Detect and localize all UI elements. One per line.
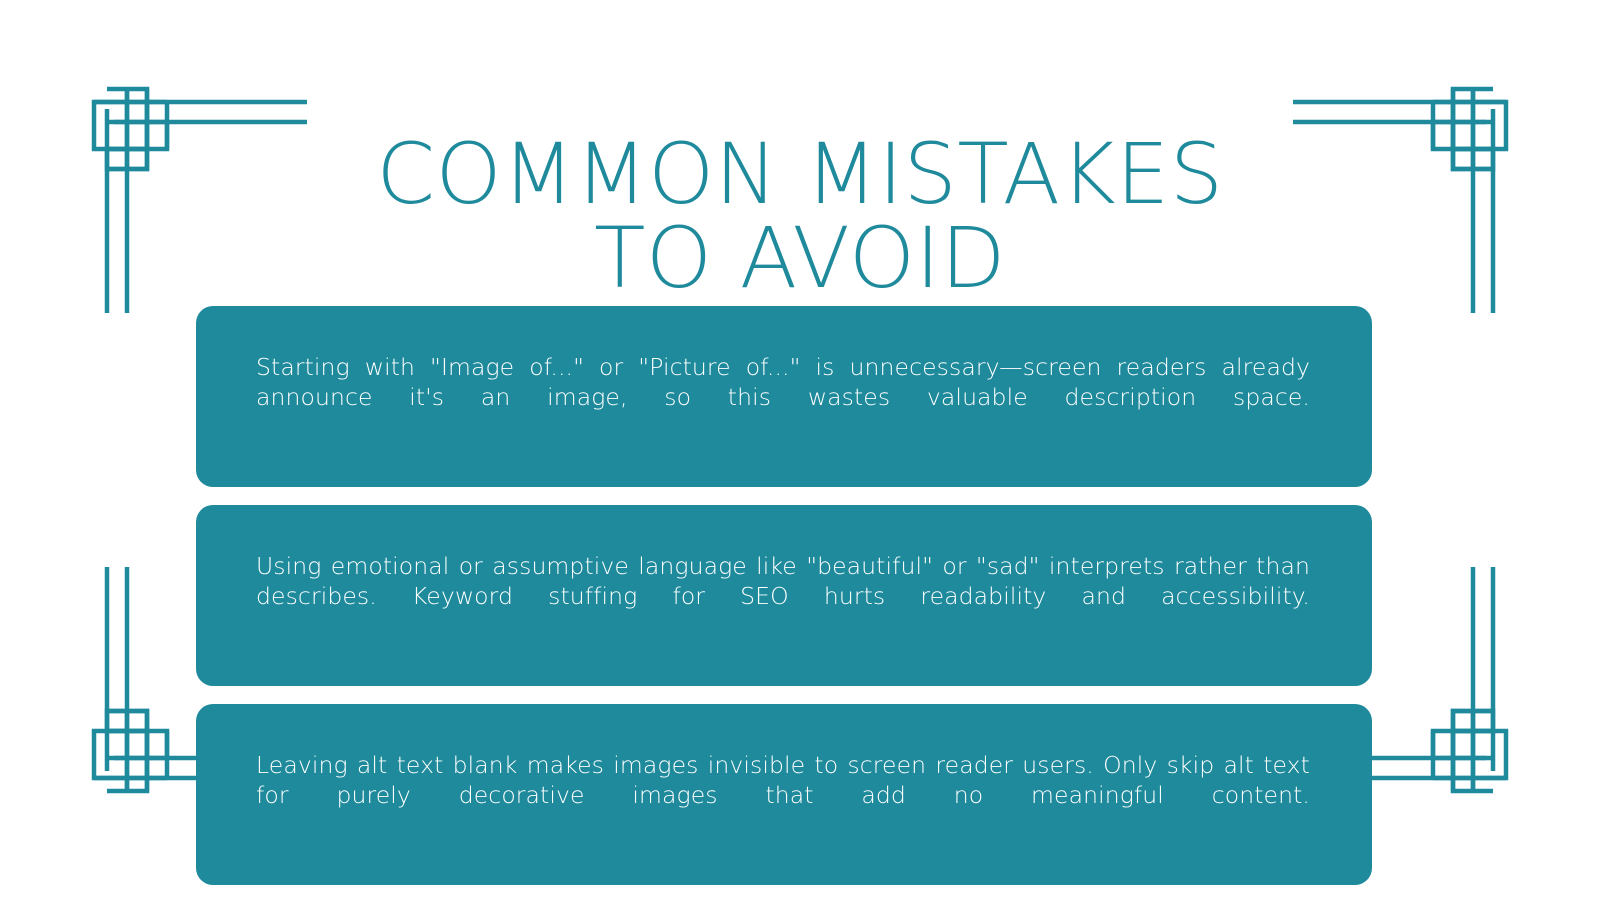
content-card-text: Leaving alt text blank makes images invi… [256, 750, 1310, 840]
content-card: Starting with "Image of..." or "Picture … [196, 306, 1372, 487]
page-title: COMMON MISTAKES TO AVOID [200, 132, 1400, 300]
content-card: Leaving alt text blank makes images invi… [196, 704, 1372, 885]
content-card: Using emotional or assumptive language l… [196, 505, 1372, 686]
content-card-text: Using emotional or assumptive language l… [256, 551, 1310, 641]
content-card-text: Starting with "Image of..." or "Picture … [256, 352, 1310, 442]
slide: COMMON MISTAKES TO AVOID Starting with "… [0, 0, 1600, 900]
content-card-list: Starting with "Image of..." or "Picture … [196, 306, 1372, 900]
